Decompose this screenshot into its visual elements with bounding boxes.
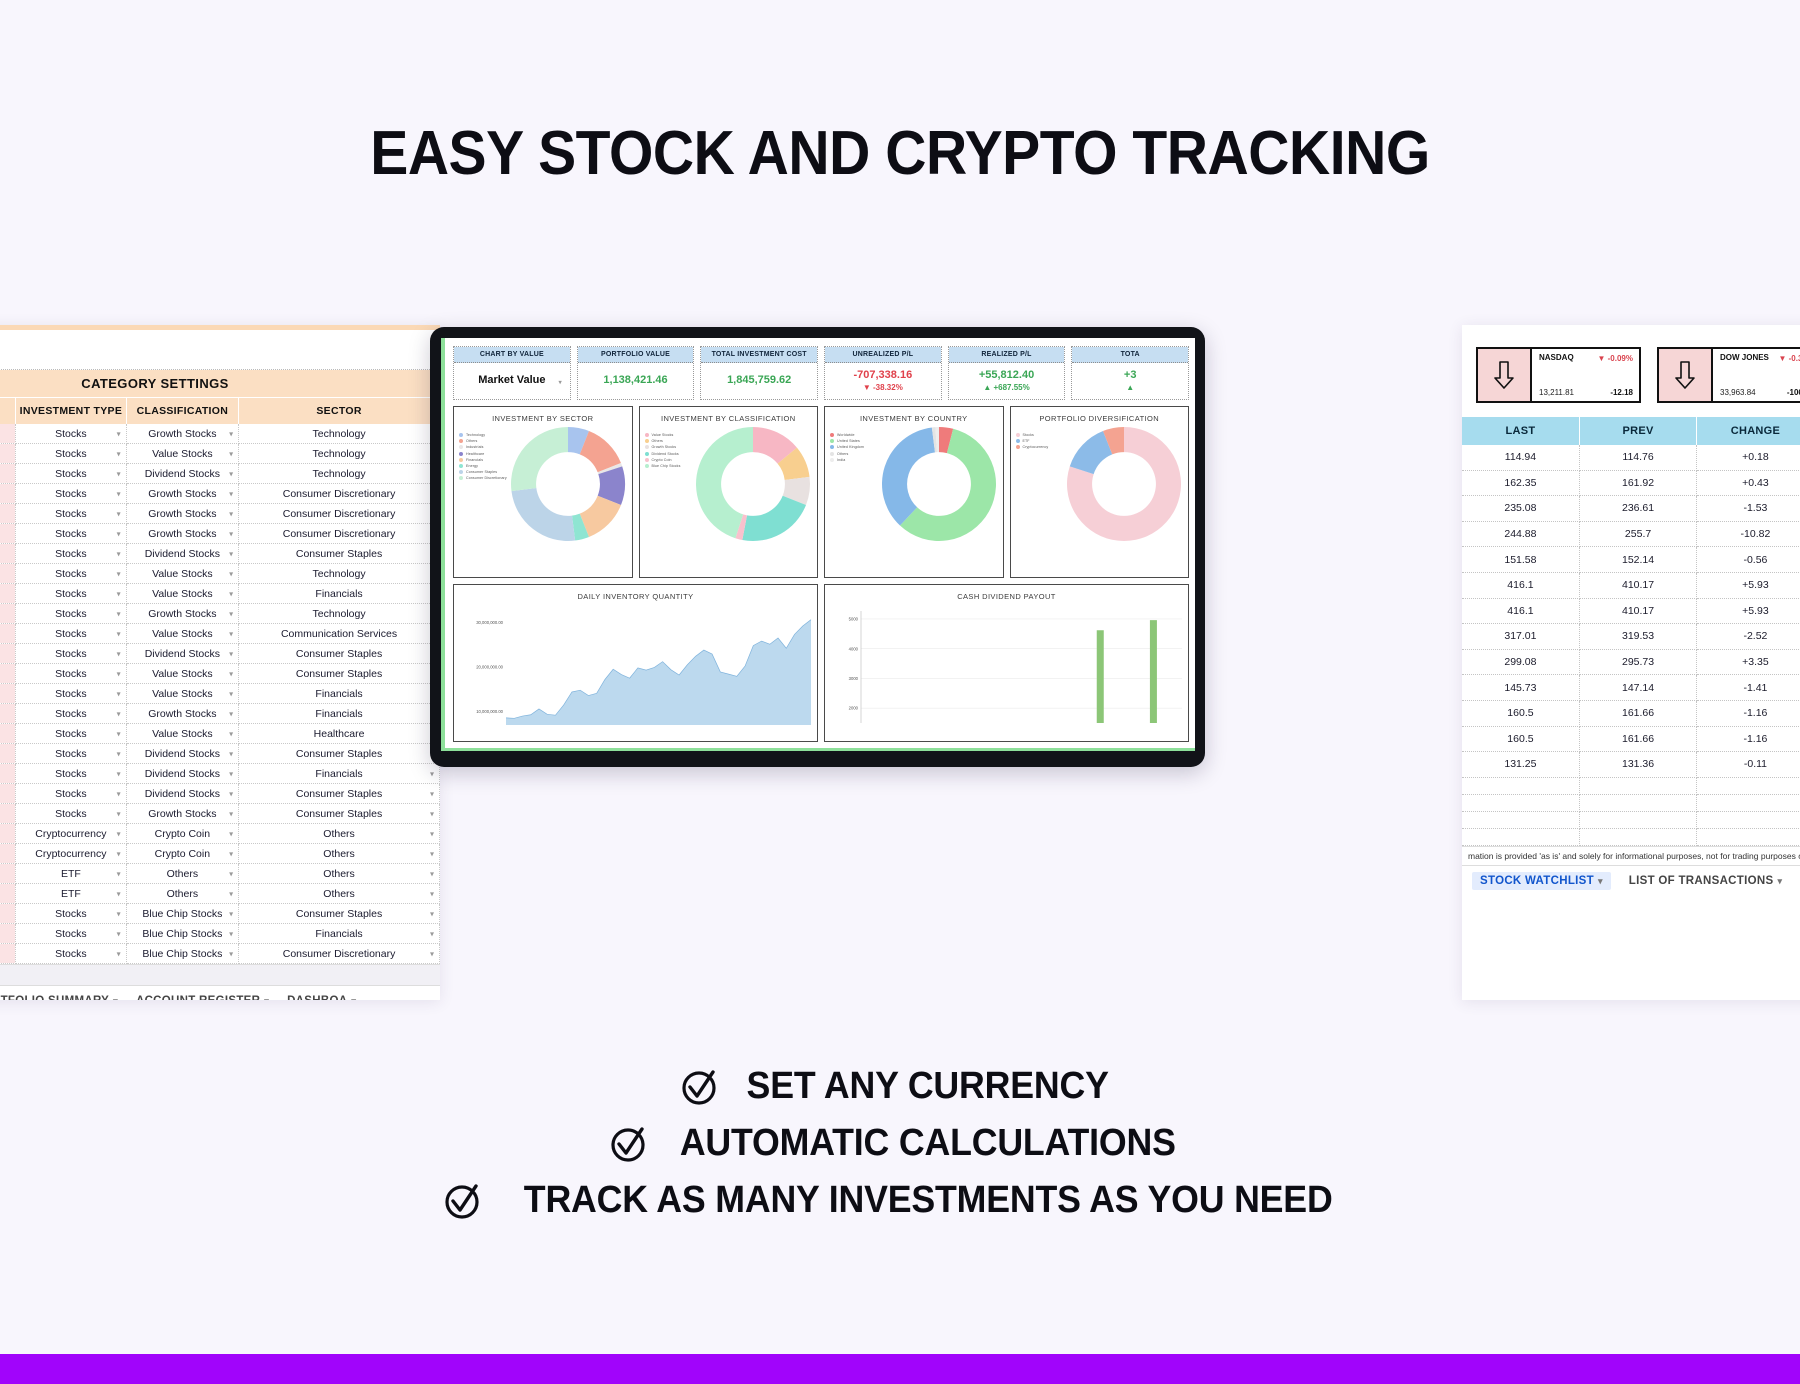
cell-last: 160.5 bbox=[1462, 726, 1579, 752]
legend-label: Cryptocurrency bbox=[1023, 445, 1049, 449]
index-card-1: DOW JONES▼ -0.31%33,963.84-106.58 bbox=[1657, 347, 1800, 403]
cell-change: -0.56 bbox=[1697, 547, 1800, 573]
cell-dropdown[interactable]: Stocks bbox=[16, 664, 126, 684]
cell-prev: 410.17 bbox=[1579, 572, 1696, 598]
index-card-0: NASDAQ▼ -0.09%13,211.81-12.18 bbox=[1476, 347, 1641, 403]
cell-dropdown[interactable]: Stocks bbox=[16, 444, 126, 464]
cell-prev: 319.53 bbox=[1579, 624, 1696, 650]
cell-dropdown[interactable]: Stocks bbox=[16, 484, 126, 504]
index-last: 13,211.81 bbox=[1539, 388, 1574, 397]
watchlist-col-2: CHANGE bbox=[1697, 417, 1800, 445]
cell-dropdown[interactable]: Technology bbox=[239, 444, 440, 464]
kpi-title: TOTAL INVESTMENT COST bbox=[701, 347, 817, 363]
cell-dropdown[interactable]: Consumer Discretionary bbox=[239, 524, 440, 544]
cell-prev: 236.61 bbox=[1579, 496, 1696, 522]
legend-swatch bbox=[459, 445, 463, 449]
cell-ticker: PRU bbox=[0, 724, 16, 744]
cell-last: 244.88 bbox=[1462, 521, 1579, 547]
donut-wrap: StocksETFCryptocurrency bbox=[1016, 425, 1184, 565]
col-header-3: SECTOR bbox=[239, 398, 440, 424]
kpi-delta: ▲ +687.55% bbox=[951, 383, 1063, 392]
cell-dropdown[interactable]: Value Stocks bbox=[126, 564, 238, 584]
legend-swatch bbox=[645, 464, 649, 468]
cell-empty bbox=[1697, 828, 1800, 845]
index-name: DOW JONES bbox=[1720, 354, 1769, 362]
cell-dropdown[interactable]: Consumer Staples bbox=[239, 664, 440, 684]
check-circle-icon bbox=[608, 1124, 648, 1164]
cell-prev: 147.14 bbox=[1579, 675, 1696, 701]
cell-dropdown[interactable]: Others bbox=[239, 824, 440, 844]
index-info: NASDAQ▼ -0.09%13,211.81-12.18 bbox=[1532, 349, 1639, 401]
cell-ticker: IT bbox=[0, 444, 16, 464]
chart-title: INVESTMENT BY CLASSIFICATION bbox=[645, 414, 813, 423]
legend-swatch bbox=[459, 476, 463, 480]
index-info: DOW JONES▼ -0.31%33,963.84-106.58 bbox=[1713, 349, 1800, 401]
table-row: RStocksGrowth StocksConsumer Discretiona… bbox=[0, 484, 440, 504]
svg-text:20,000,000.00: 20,000,000.00 bbox=[476, 665, 503, 670]
cell-last: 299.08 bbox=[1462, 649, 1579, 675]
kpi-body: -707,338.16▼ -38.32% bbox=[825, 363, 941, 399]
cell-empty bbox=[1697, 794, 1800, 811]
watchlist-col-0: LAST bbox=[1462, 417, 1579, 445]
check-circle-icon bbox=[679, 1067, 719, 1107]
cell-dropdown[interactable]: Others bbox=[239, 884, 440, 904]
cell-prev: 295.73 bbox=[1579, 649, 1696, 675]
cell-dropdown[interactable]: Stocks bbox=[16, 564, 126, 584]
cell-dropdown[interactable]: Stocks bbox=[16, 504, 126, 524]
cell-dropdown[interactable]: Value Stocks bbox=[126, 584, 238, 604]
cell-dropdown[interactable]: Others bbox=[126, 884, 238, 904]
table-row: CHLTDStocksDividend StocksConsumer Stapl… bbox=[0, 644, 440, 664]
cell-dropdown[interactable]: Cryptocurrency bbox=[16, 844, 126, 864]
chevron-down-icon: ▾ bbox=[264, 996, 269, 1000]
cell-dropdown[interactable]: Financials bbox=[239, 684, 440, 704]
cell-dropdown[interactable]: Stocks bbox=[16, 684, 126, 704]
cell-dropdown[interactable]: Stocks bbox=[16, 644, 126, 664]
cell-last: 151.58 bbox=[1462, 547, 1579, 573]
watchlist-tab-0[interactable]: STOCK WATCHLIST▾ bbox=[1472, 872, 1611, 890]
cell-dropdown[interactable]: Growth Stocks bbox=[126, 484, 238, 504]
legend-label: Consumer Staples bbox=[466, 470, 497, 474]
cell-ticker: COFFEE bbox=[0, 624, 16, 644]
table-row: 162.35161.92+0.43▲ +0.27% bbox=[1462, 470, 1800, 496]
legend-swatch bbox=[459, 464, 463, 468]
cell-dropdown[interactable]: Growth Stocks bbox=[126, 424, 238, 444]
cell-dropdown[interactable]: Consumer Staples bbox=[239, 904, 440, 924]
cell-dropdown[interactable]: Value Stocks bbox=[126, 624, 238, 644]
cell-dropdown[interactable]: Consumer Staples bbox=[239, 784, 440, 804]
legend-swatch bbox=[645, 433, 649, 437]
table-row: NGStocksDividend StocksConsumer Staples bbox=[0, 744, 440, 764]
cell-dropdown[interactable]: Technology bbox=[239, 424, 440, 444]
cell-dropdown[interactable]: Healthcare bbox=[239, 724, 440, 744]
legend-item: ETF bbox=[1016, 439, 1066, 443]
cell-ticker: IX bbox=[0, 524, 16, 544]
table-row-empty bbox=[1462, 794, 1800, 811]
cell-ticker: GT bbox=[0, 884, 16, 904]
cell-change: -1.53 bbox=[1697, 496, 1800, 522]
legend-label: Healthcare bbox=[466, 452, 484, 456]
donut-chart bbox=[694, 425, 812, 543]
chart-legend: StocksETFCryptocurrency bbox=[1016, 425, 1066, 452]
table-row: 114.94114.76+0.18▲ +0.16% bbox=[1462, 445, 1800, 470]
table-row: 131.25131.36-0.11▼ -0.08% bbox=[1462, 752, 1800, 778]
table-row: CStocksBlue Chip StocksConsumer Discreti… bbox=[0, 944, 440, 964]
cell-last: 317.01 bbox=[1462, 624, 1579, 650]
table-row: TAStocksValue StocksFinancials bbox=[0, 684, 440, 704]
legend-item: Consumer Staples bbox=[459, 470, 509, 474]
legend-swatch bbox=[830, 433, 834, 437]
svg-text:2000: 2000 bbox=[849, 706, 859, 711]
cell-empty bbox=[1462, 811, 1579, 828]
cell-dropdown[interactable]: Stocks bbox=[16, 424, 126, 444]
cell-dropdown[interactable]: Growth Stocks bbox=[126, 704, 238, 724]
cell-dropdown[interactable]: Stocks bbox=[16, 924, 126, 944]
cell-change: -1.41 bbox=[1697, 675, 1800, 701]
col-header-0: TICKER bbox=[0, 398, 16, 424]
table-row: TSStocksBlue Chip StocksFinancials bbox=[0, 924, 440, 944]
chart-title: INVESTMENT BY SECTOR bbox=[459, 414, 627, 423]
index-top: DOW JONES▼ -0.31% bbox=[1720, 354, 1800, 363]
cell-empty bbox=[1462, 828, 1579, 845]
cell-dropdown[interactable]: Blue Chip Stocks bbox=[126, 944, 238, 964]
cell-dropdown[interactable]: Stocks bbox=[16, 724, 126, 744]
cell-empty bbox=[1579, 777, 1696, 794]
cell-empty bbox=[1462, 794, 1579, 811]
cell-ticker: J bbox=[0, 804, 16, 824]
cell-dropdown[interactable]: ETF bbox=[16, 864, 126, 884]
table-row: USDETFOthersOthers bbox=[0, 864, 440, 884]
cell-ticker: M bbox=[0, 424, 16, 444]
svg-text:5000: 5000 bbox=[849, 617, 859, 622]
table-row: FTStocksValue StocksConsumer Staples bbox=[0, 664, 440, 684]
kpi-value: 1,845,759.62 bbox=[703, 374, 815, 386]
cell-dropdown[interactable]: Dividend Stocks bbox=[126, 464, 238, 484]
kpi-delta: ▼ -38.32% bbox=[827, 383, 939, 392]
cell-dropdown[interactable]: ETF bbox=[16, 884, 126, 904]
cell-dropdown[interactable]: Growth Stocks bbox=[126, 504, 238, 524]
cell-ticker: OG bbox=[0, 844, 16, 864]
cell-dropdown[interactable]: Stocks bbox=[16, 764, 126, 784]
legend-label: Worldwide bbox=[837, 433, 855, 437]
cell-empty bbox=[1697, 777, 1800, 794]
sheet-blank-row bbox=[0, 330, 440, 370]
cell-dropdown[interactable]: Consumer Staples bbox=[239, 804, 440, 824]
cell-last: 131.25 bbox=[1462, 752, 1579, 778]
svg-text:3000: 3000 bbox=[849, 676, 859, 681]
watchlist-table: LASTPREVCHANGECHANGE % 114.94114.76+0.18… bbox=[1462, 417, 1800, 846]
legend-label: Crypto Coin bbox=[652, 458, 672, 462]
cell-empty bbox=[1579, 828, 1696, 845]
cell-last: 114.94 bbox=[1462, 445, 1579, 470]
cell-dropdown[interactable]: Technology bbox=[239, 604, 440, 624]
legend-item: Industrials bbox=[459, 445, 509, 449]
table-row: GStocksDividend StocksConsumer Staples bbox=[0, 544, 440, 564]
cash-dividend-payout-plot: 5000400030002000 bbox=[831, 603, 1182, 736]
feature-label: AUTOMATIC CALCULATIONS bbox=[680, 1122, 1176, 1165]
cell-dropdown[interactable]: Consumer Discretionary bbox=[239, 484, 440, 504]
sheet-tab-2[interactable]: ACCOUNT REGISTER▾ bbox=[136, 995, 269, 1000]
cell-ticker: C bbox=[0, 944, 16, 964]
cell-dropdown[interactable]: Value Stocks bbox=[126, 444, 238, 464]
legend-item: United States bbox=[830, 439, 880, 443]
donut-chart-row: INVESTMENT BY SECTORTechnologyOthersIndu… bbox=[445, 404, 1195, 582]
cell-dropdown[interactable]: Consumer Discretionary bbox=[239, 504, 440, 524]
cell-dropdown[interactable]: Others bbox=[239, 864, 440, 884]
kpi-title: REALIZED P/L bbox=[949, 347, 1065, 363]
index-change: -106.58 bbox=[1787, 388, 1800, 397]
cell-last: 160.5 bbox=[1462, 700, 1579, 726]
cell-dropdown[interactable]: Consumer Staples bbox=[239, 644, 440, 664]
table-row: EStocksValue StocksTechnology bbox=[0, 564, 440, 584]
watchlist-tab-1[interactable]: LIST OF TRANSACTIONS▾ bbox=[1629, 875, 1782, 887]
table-row: ITStocksValue StocksTechnology bbox=[0, 444, 440, 464]
legend-label: Energy bbox=[466, 464, 478, 468]
sheet-tab-1[interactable]: PORTFOLIO SUMMARY▾ bbox=[0, 995, 118, 1000]
legend-label: Stocks bbox=[1023, 433, 1034, 437]
cell-dropdown[interactable]: Stocks bbox=[16, 464, 126, 484]
cell-ticker: E bbox=[0, 564, 16, 584]
category-settings-title: CATEGORY SETTINGS bbox=[0, 370, 440, 398]
table-row: 145.73147.14-1.41▼ -0.96% bbox=[1462, 675, 1800, 701]
cell-dropdown[interactable]: Stocks bbox=[16, 904, 126, 924]
legend-swatch bbox=[645, 439, 649, 443]
kpi-body: 1,138,421.46 bbox=[578, 363, 694, 397]
table-row: PRUStocksValue StocksHealthcare bbox=[0, 724, 440, 744]
table-row: DAStocksGrowth StocksTechnology bbox=[0, 604, 440, 624]
index-bottom: 13,211.81-12.18 bbox=[1539, 388, 1633, 397]
cell-dropdown[interactable]: Consumer Staples bbox=[239, 744, 440, 764]
kpi-card-row: CHART BY VALUEMarket ValuePORTFOLIO VALU… bbox=[445, 338, 1195, 404]
legend-swatch bbox=[645, 458, 649, 462]
col-header-1: INVESTMENT TYPE bbox=[16, 398, 126, 424]
cell-dropdown[interactable]: Stocks bbox=[16, 804, 126, 824]
cell-dropdown[interactable]: Stocks bbox=[16, 704, 126, 724]
cell-ticker: CHLTD bbox=[0, 644, 16, 664]
cell-change: -1.16 bbox=[1697, 726, 1800, 752]
cell-dropdown[interactable]: Communication Services bbox=[239, 624, 440, 644]
cell-dropdown[interactable]: Blue Chip Stocks bbox=[126, 904, 238, 924]
cell-prev: 152.14 bbox=[1579, 547, 1696, 573]
donut-chart bbox=[1065, 425, 1183, 543]
table-row: AStocksGrowth StocksConsumer Discretiona… bbox=[0, 504, 440, 524]
cell-dropdown[interactable]: Stocks bbox=[16, 524, 126, 544]
kpi-title: TOTA bbox=[1072, 347, 1188, 363]
donut-wrap: Value StocksOthersGrowth StocksDividend … bbox=[645, 425, 813, 565]
legend-item: Crypto Coin bbox=[645, 458, 695, 462]
cell-dropdown[interactable]: Growth Stocks bbox=[126, 804, 238, 824]
cell-empty bbox=[1579, 811, 1696, 828]
kpi-body: +3▲ bbox=[1072, 363, 1188, 399]
legend-swatch bbox=[459, 439, 463, 443]
cell-dropdown[interactable]: Others bbox=[126, 864, 238, 884]
cell-prev: 161.66 bbox=[1579, 726, 1696, 752]
daily-inventory-quantity-plot: 30,000,000.0020,000,000.0010,000,000.00 bbox=[460, 603, 811, 736]
timeseries-chart-row: DAILY INVENTORY QUANTITY 30,000,000.0020… bbox=[445, 582, 1195, 748]
watchlist-header-row: LASTPREVCHANGECHANGE % bbox=[1462, 417, 1800, 445]
cell-ticker: USD bbox=[0, 904, 16, 924]
cell-ticker bbox=[0, 464, 16, 484]
market-index-row: NASDAQ▼ -0.09%13,211.81-12.18DOW JONES▼ … bbox=[1462, 337, 1800, 417]
cell-prev: 410.17 bbox=[1579, 598, 1696, 624]
table-row-empty bbox=[1462, 777, 1800, 794]
cell-change: -10.82 bbox=[1697, 521, 1800, 547]
legend-swatch bbox=[830, 452, 834, 456]
cell-dropdown[interactable]: Stocks bbox=[16, 624, 126, 644]
table-row: COFFEEStocksValue StocksCommunication Se… bbox=[0, 624, 440, 644]
cell-change: +5.93 bbox=[1697, 598, 1800, 624]
cell-empty bbox=[1697, 811, 1800, 828]
index-percent: ▼ -0.31% bbox=[1779, 354, 1800, 363]
cell-last: 416.1 bbox=[1462, 598, 1579, 624]
cell-dropdown[interactable]: Consumer Staples bbox=[239, 544, 440, 564]
kpi-title: PORTFOLIO VALUE bbox=[578, 347, 694, 363]
cell-dropdown[interactable]: Dividend Stocks bbox=[126, 784, 238, 804]
legend-swatch bbox=[1016, 433, 1020, 437]
legend-label: Value Stocks bbox=[652, 433, 674, 437]
cell-dropdown[interactable]: Stocks bbox=[16, 544, 126, 564]
bottom-accent-bar bbox=[0, 1354, 1800, 1384]
kpi-card-0: CHART BY VALUEMarket Value bbox=[453, 346, 571, 400]
watchlist-disclaimer: mation is provided 'as is' and solely fo… bbox=[1462, 846, 1800, 865]
cell-dropdown[interactable]: Crypto Coin bbox=[126, 824, 238, 844]
table-row: ACryptocurrencyCrypto CoinOthers bbox=[0, 824, 440, 844]
index-bottom: 33,963.84-106.58 bbox=[1720, 388, 1800, 397]
legend-label: Others bbox=[652, 439, 663, 443]
cell-ticker: P bbox=[0, 584, 16, 604]
cell-dropdown[interactable]: Crypto Coin bbox=[126, 844, 238, 864]
cell-last: 145.73 bbox=[1462, 675, 1579, 701]
cash-dividend-payout-card: CASH DIVIDEND PAYOUT 5000400030002000 bbox=[824, 584, 1189, 742]
kpi-body: 1,845,759.62 bbox=[701, 363, 817, 397]
cell-dropdown[interactable]: Financials bbox=[239, 924, 440, 944]
dashboard-monitor-frame: CHART BY VALUEMarket ValuePORTFOLIO VALU… bbox=[430, 327, 1205, 767]
legend-item: Technology bbox=[459, 433, 509, 437]
legend-swatch bbox=[459, 470, 463, 474]
cell-ticker: NG bbox=[0, 744, 16, 764]
cell-dropdown[interactable]: Stocks bbox=[16, 744, 126, 764]
cell-prev: 161.66 bbox=[1579, 700, 1696, 726]
cell-dropdown[interactable]: Growth Stocks bbox=[126, 604, 238, 624]
chart-card-0: INVESTMENT BY SECTORTechnologyOthersIndu… bbox=[453, 406, 633, 578]
cell-dropdown[interactable]: Stocks bbox=[16, 944, 126, 964]
legend-item: Blue Chip Stocks bbox=[645, 464, 695, 468]
cell-dropdown[interactable]: Technology bbox=[239, 464, 440, 484]
legend-label: Industrials bbox=[466, 445, 483, 449]
cell-ticker: A bbox=[0, 704, 16, 724]
table-row: PStocksValue StocksFinancials bbox=[0, 584, 440, 604]
feature-list: SET ANY CURRENCYAUTOMATIC CALCULATIONSTR… bbox=[0, 1065, 1800, 1236]
chart-card-2: INVESTMENT BY COUNTRYWorldwideUnited Sta… bbox=[824, 406, 1004, 578]
kpi-body: Market Value bbox=[454, 363, 570, 397]
cell-change: -1.16 bbox=[1697, 700, 1800, 726]
watchlist-tab-bar[interactable]: STOCK WATCHLIST▾LIST OF TRANSACTIONS▾MAN… bbox=[1462, 865, 1800, 896]
kpi-card-4: REALIZED P/L+55,812.40▲ +687.55% bbox=[948, 346, 1066, 400]
cell-dropdown[interactable]: Blue Chip Stocks bbox=[126, 924, 238, 944]
kpi-value: +55,812.40 bbox=[951, 369, 1063, 381]
legend-item: Growth Stocks bbox=[645, 445, 695, 449]
cell-ticker: R bbox=[0, 484, 16, 504]
table-row: JStocksGrowth StocksConsumer Staples bbox=[0, 804, 440, 824]
cash-dividend-payout-title: CASH DIVIDEND PAYOUT bbox=[831, 592, 1182, 601]
legend-item: Dividend Stocks bbox=[645, 452, 695, 456]
legend-label: Others bbox=[466, 439, 477, 443]
legend-item: Worldwide bbox=[830, 433, 880, 437]
cell-dropdown[interactable]: Dividend Stocks bbox=[126, 744, 238, 764]
kpi-card-3: UNREALIZED P/L-707,338.16▼ -38.32% bbox=[824, 346, 942, 400]
cell-dropdown[interactable]: Cryptocurrency bbox=[16, 824, 126, 844]
legend-swatch bbox=[459, 433, 463, 437]
table-row: AStocksGrowth StocksFinancials bbox=[0, 704, 440, 724]
table-row: 416.1410.17+5.93▲ +1.45% bbox=[1462, 572, 1800, 598]
cell-ticker: TS bbox=[0, 924, 16, 944]
cell-dropdown[interactable]: Growth Stocks bbox=[126, 524, 238, 544]
cell-dropdown[interactable]: Stocks bbox=[16, 584, 126, 604]
cell-ticker: M bbox=[0, 784, 16, 804]
legend-item: Consumer Discretionary bbox=[459, 476, 509, 480]
table-row: 151.58152.14-0.56▼ -0.37% bbox=[1462, 547, 1800, 573]
cell-change: +3.35 bbox=[1697, 649, 1800, 675]
kpi-value: 1,138,421.46 bbox=[580, 374, 692, 386]
cell-dropdown[interactable]: Technology bbox=[239, 564, 440, 584]
cell-ticker: FT bbox=[0, 664, 16, 684]
kpi-title: UNREALIZED P/L bbox=[825, 347, 941, 363]
legend-label: Financials bbox=[466, 458, 483, 462]
sheet-tab-bar[interactable]: ETTINGS▾PORTFOLIO SUMMARY▾ACCOUNT REGIST… bbox=[0, 985, 440, 1000]
cell-ticker: DA bbox=[0, 604, 16, 624]
cell-dropdown[interactable]: Financials bbox=[239, 704, 440, 724]
cell-prev: 255.7 bbox=[1579, 521, 1696, 547]
legend-item: Cryptocurrency bbox=[1016, 445, 1066, 449]
cell-dropdown[interactable]: Value Stocks bbox=[126, 684, 238, 704]
cell-dropdown[interactable]: Dividend Stocks bbox=[126, 764, 238, 784]
cell-dropdown[interactable]: Dividend Stocks bbox=[126, 644, 238, 664]
svg-text:10,000,000.00: 10,000,000.00 bbox=[476, 709, 503, 714]
cell-dropdown[interactable]: Value Stocks bbox=[126, 664, 238, 684]
cell-empty bbox=[1462, 777, 1579, 794]
table-row: StocksDividend StocksTechnology bbox=[0, 464, 440, 484]
cell-dropdown[interactable]: Dividend Stocks bbox=[126, 544, 238, 564]
cell-dropdown[interactable]: Stocks bbox=[16, 784, 126, 804]
cell-dropdown[interactable]: Financials bbox=[239, 764, 440, 784]
legend-label: Technology bbox=[466, 433, 485, 437]
index-top: NASDAQ▼ -0.09% bbox=[1539, 354, 1633, 363]
arrow-down-icon bbox=[1659, 349, 1713, 401]
chart-card-3: PORTFOLIO DIVERSIFICATIONStocksETFCrypto… bbox=[1010, 406, 1190, 578]
donut-wrap: WorldwideUnited StatesUnited KingdomOthe… bbox=[830, 425, 998, 565]
stock-watchlist-panel: NASDAQ▼ -0.09%13,211.81-12.18DOW JONES▼ … bbox=[1462, 325, 1800, 1000]
cell-dropdown[interactable]: Stocks bbox=[16, 604, 126, 624]
cell-dropdown[interactable]: Value Stocks bbox=[126, 724, 238, 744]
kpi-card-1: PORTFOLIO VALUE1,138,421.46 bbox=[577, 346, 695, 400]
legend-swatch bbox=[830, 439, 834, 443]
table-row: MStocksGrowth StocksTechnology bbox=[0, 424, 440, 444]
sheet-tab-3[interactable]: DASHBOA▾ bbox=[287, 995, 356, 1000]
cell-last: 162.35 bbox=[1462, 470, 1579, 496]
table-row: 299.08295.73+3.35▲ +1.13% bbox=[1462, 649, 1800, 675]
cell-change: +0.43 bbox=[1697, 470, 1800, 496]
chart-by-value-select[interactable]: Market Value bbox=[456, 374, 568, 386]
cell-dropdown[interactable]: Financials bbox=[239, 584, 440, 604]
cell-ticker: USD bbox=[0, 864, 16, 884]
kpi-title: CHART BY VALUE bbox=[454, 347, 570, 363]
cell-dropdown[interactable]: Consumer Discretionary bbox=[239, 944, 440, 964]
legend-swatch bbox=[1016, 445, 1020, 449]
table-row-empty bbox=[1462, 828, 1800, 845]
cell-dropdown[interactable]: Others bbox=[239, 844, 440, 864]
feature-label: SET ANY CURRENCY bbox=[747, 1065, 1109, 1108]
chevron-down-icon: ▾ bbox=[351, 996, 356, 1000]
